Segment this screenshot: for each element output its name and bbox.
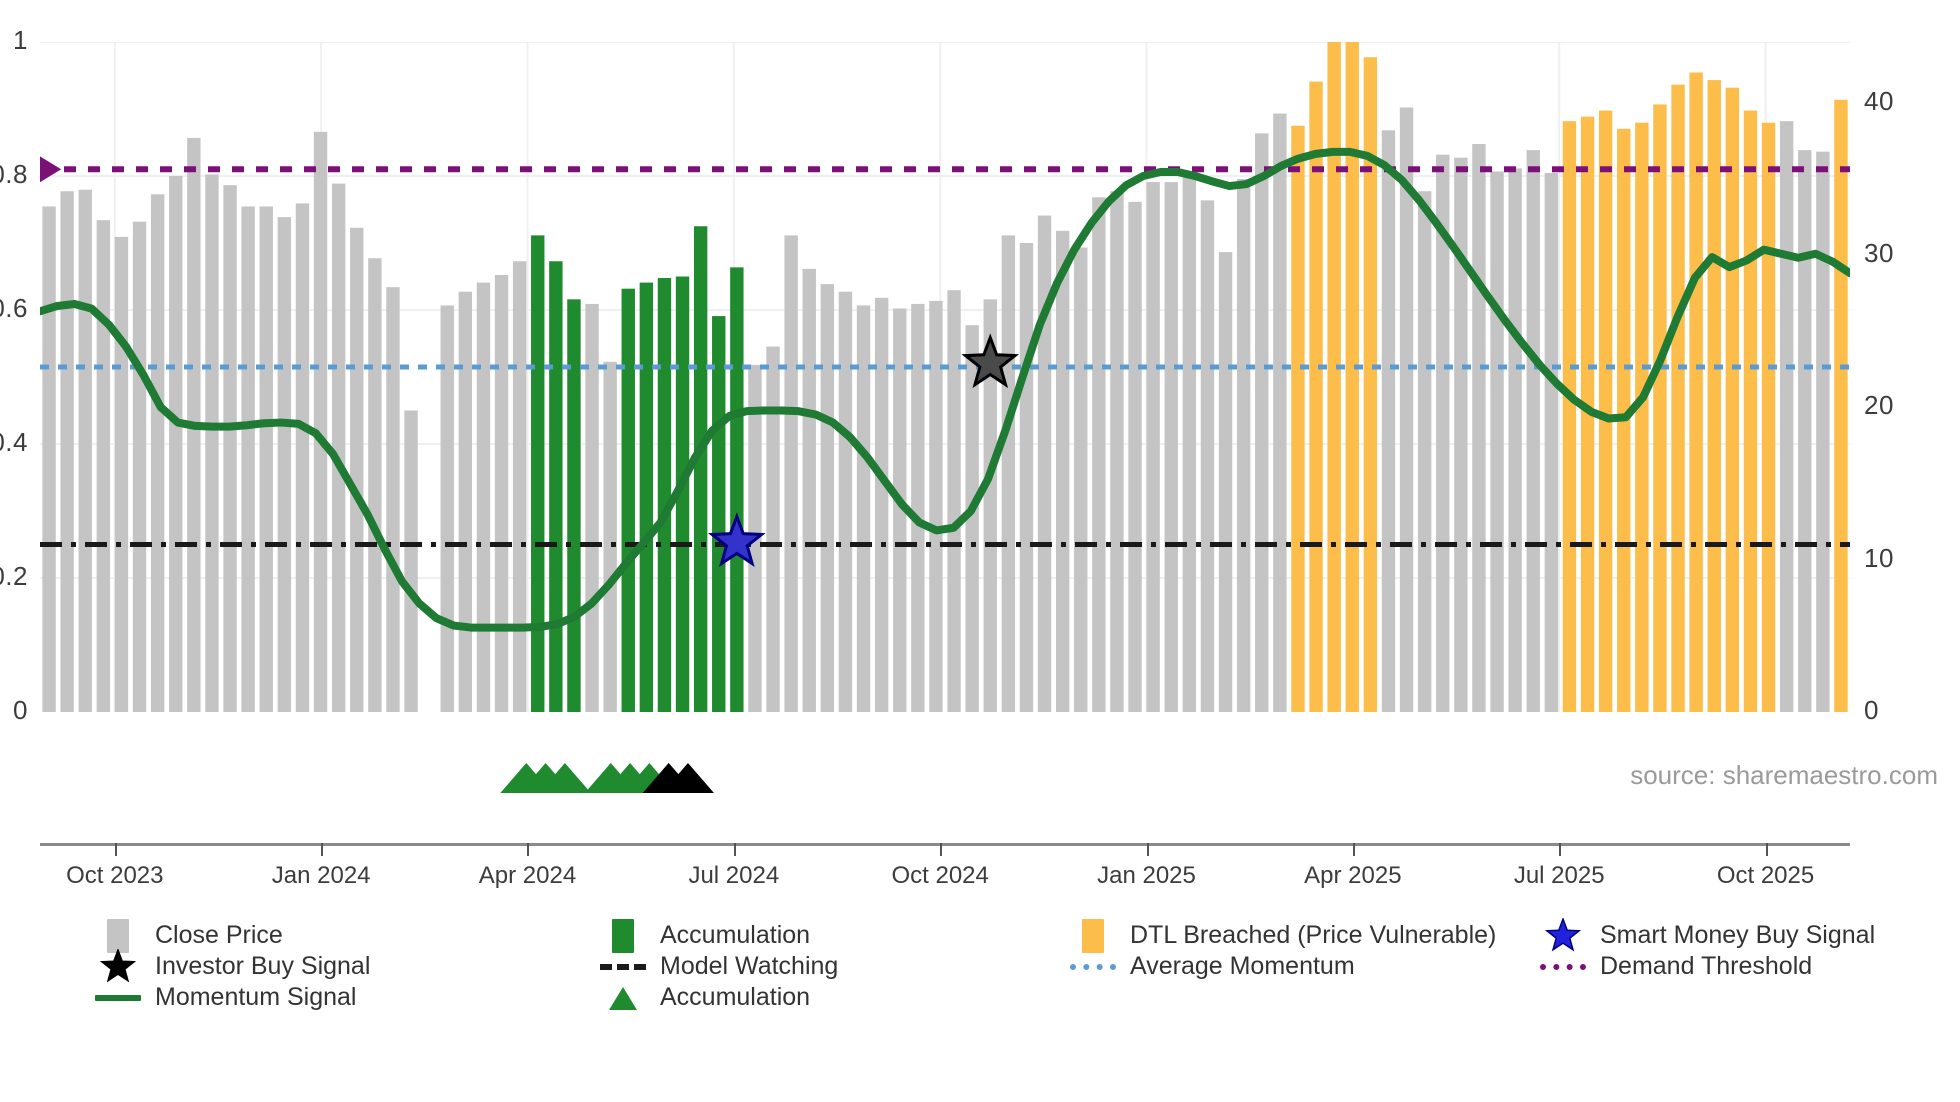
bar-close-price bbox=[1780, 121, 1793, 712]
x-axis-tick-0: Oct 2023 bbox=[66, 862, 163, 890]
swatch-dash-icon bbox=[600, 964, 646, 970]
x-axis-tickmark-6 bbox=[1353, 843, 1355, 856]
bar-dtl-breached bbox=[1327, 42, 1340, 712]
bar-close-price bbox=[803, 269, 816, 712]
star-icon bbox=[1545, 918, 1581, 954]
source-note: source: sharemaestro.com bbox=[1630, 760, 1938, 791]
bar-dtl-breached bbox=[1291, 126, 1304, 712]
legend-momentum-signal[interactable]: Momentum Signal bbox=[95, 982, 370, 1013]
bar-close-price bbox=[1002, 235, 1015, 712]
bar-accumulation bbox=[622, 289, 635, 712]
legend-dtl-breached[interactable]: DTL Breached (Price Vulnerable) bbox=[1070, 920, 1496, 951]
legend-label: DTL Breached (Price Vulnerable) bbox=[1130, 921, 1496, 950]
bar-close-price bbox=[1418, 191, 1431, 712]
bar-close-price bbox=[1816, 152, 1829, 712]
bar-close-price bbox=[1165, 182, 1178, 712]
bar-close-price bbox=[1237, 179, 1250, 712]
bar-dtl-breached bbox=[1309, 82, 1322, 712]
bar-close-price bbox=[1201, 200, 1214, 712]
x-axis-tick-7: Jul 2025 bbox=[1514, 862, 1605, 890]
bar-close-price bbox=[1183, 173, 1196, 712]
legend-demand-threshold[interactable]: Demand Threshold bbox=[1540, 951, 1875, 982]
left-axis-tick-2: 0.4 bbox=[0, 427, 28, 458]
bar-close-price bbox=[1056, 231, 1069, 712]
x-axis-spine bbox=[40, 843, 1850, 846]
bar-close-price bbox=[1092, 197, 1105, 712]
x-axis-tickmark-0 bbox=[115, 843, 117, 856]
bar-close-price bbox=[1472, 144, 1485, 712]
bar-close-price bbox=[1545, 173, 1558, 712]
bar-close-price bbox=[151, 194, 164, 712]
bar-close-price bbox=[97, 220, 110, 712]
legend-close-price[interactable]: Close Price bbox=[95, 920, 370, 951]
bar-close-price bbox=[1020, 243, 1033, 712]
bar-close-price bbox=[1508, 168, 1521, 712]
x-axis-tick-3: Jul 2024 bbox=[688, 862, 779, 890]
bar-accumulation bbox=[730, 267, 743, 712]
bar-close-price bbox=[133, 222, 146, 712]
triangle-accumulation-green-3 bbox=[585, 763, 637, 793]
legend-accumulation-triangle[interactable]: Accumulation bbox=[600, 982, 838, 1013]
triangle-accumulation-green-1 bbox=[520, 763, 572, 793]
swatch-dotted-icon bbox=[1070, 964, 1116, 970]
bar-close-price bbox=[332, 184, 345, 712]
bar-close-price bbox=[1110, 191, 1123, 712]
bar-close-price bbox=[1146, 182, 1159, 712]
x-axis-tick-2: Apr 2024 bbox=[479, 862, 576, 890]
bar-close-price bbox=[60, 191, 73, 712]
x-axis-tickmark-7 bbox=[1559, 843, 1561, 856]
bar-close-price bbox=[278, 217, 291, 712]
bar-accumulation bbox=[712, 316, 725, 712]
bar-accumulation bbox=[640, 283, 653, 712]
bar-close-price bbox=[1038, 216, 1051, 712]
x-axis-tickmark-4 bbox=[940, 843, 942, 856]
x-axis-tickmark-5 bbox=[1147, 843, 1149, 856]
bar-close-price bbox=[495, 275, 508, 712]
right-axis-tick-2: 20 bbox=[1864, 390, 1894, 421]
legend-label: Accumulation bbox=[660, 921, 810, 950]
x-axis-tick-5: Jan 2025 bbox=[1097, 862, 1196, 890]
swatch-bar-icon bbox=[1082, 919, 1104, 953]
x-axis-tick-6: Apr 2025 bbox=[1304, 862, 1401, 890]
bar-close-price bbox=[314, 132, 327, 712]
x-axis-tick-8: Oct 2025 bbox=[1717, 862, 1814, 890]
bar-accumulation bbox=[658, 278, 671, 712]
legend-model-watching[interactable]: Model Watching bbox=[600, 951, 838, 982]
triangle-accumulation-green-4 bbox=[604, 763, 656, 793]
triangle-accumulation-black-1 bbox=[662, 763, 714, 793]
bar-close-price bbox=[1255, 133, 1268, 712]
left-axis-tick-0: 0 bbox=[13, 695, 28, 726]
bar-close-price bbox=[1273, 114, 1286, 712]
bar-accumulation bbox=[694, 226, 707, 712]
legend-label: Accumulation bbox=[660, 983, 810, 1012]
bar-dtl-breached bbox=[1726, 88, 1739, 712]
triangle-accumulation-green-6 bbox=[643, 763, 695, 793]
swatch-line-icon bbox=[95, 995, 141, 1001]
star-icon bbox=[100, 949, 136, 985]
triangle-icon bbox=[605, 982, 641, 1014]
bar-close-price bbox=[115, 237, 128, 712]
legend-column-3: Smart Money Buy SignalDemand Threshold bbox=[1540, 920, 1875, 982]
legend-investor-buy-signal[interactable]: Investor Buy Signal bbox=[95, 951, 370, 982]
left-axis-tick-5: 1 bbox=[13, 25, 28, 56]
bar-accumulation bbox=[567, 299, 580, 712]
left-axis-tick-1: 0.2 bbox=[0, 561, 28, 592]
bar-close-price bbox=[875, 298, 888, 712]
bar-dtl-breached bbox=[1563, 121, 1576, 712]
x-axis-tickmark-3 bbox=[734, 843, 736, 856]
bar-close-price bbox=[404, 411, 417, 713]
legend-label: Average Momentum bbox=[1130, 952, 1355, 981]
bar-close-price bbox=[1798, 150, 1811, 712]
x-axis-tickmark-8 bbox=[1766, 843, 1768, 856]
right-axis-tick-3: 30 bbox=[1864, 238, 1894, 269]
bar-close-price bbox=[223, 185, 236, 712]
right-axis-tick-0: 0 bbox=[1864, 695, 1879, 726]
triangle-accumulation-green-0 bbox=[500, 763, 552, 793]
plot-area bbox=[40, 42, 1850, 712]
swatch-bar-icon bbox=[612, 919, 634, 953]
bar-close-price bbox=[296, 203, 309, 712]
bar-accumulation bbox=[531, 235, 544, 712]
x-axis-tickmark-1 bbox=[321, 843, 323, 856]
bar-dtl-breached bbox=[1744, 111, 1757, 712]
bar-close-price bbox=[368, 258, 381, 712]
swatch-dotted-icon bbox=[1540, 964, 1586, 970]
bar-accumulation bbox=[549, 261, 562, 712]
bar-close-price bbox=[169, 176, 182, 712]
bar-close-price bbox=[1382, 130, 1395, 712]
bar-dtl-breached bbox=[1346, 42, 1359, 712]
swatch-bar-icon bbox=[107, 919, 129, 953]
legend-column-2: DTL Breached (Price Vulnerable)Average M… bbox=[1070, 920, 1496, 982]
left-axis-tick-3: 0.6 bbox=[0, 293, 28, 324]
bar-close-price bbox=[350, 228, 363, 712]
triangle-accumulation-green-2 bbox=[539, 763, 591, 793]
bar-dtl-breached bbox=[1653, 104, 1666, 712]
bar-dtl-breached bbox=[1671, 85, 1684, 712]
bar-close-price bbox=[1527, 150, 1540, 712]
bar-close-price bbox=[1490, 171, 1503, 712]
bar-dtl-breached bbox=[1834, 100, 1847, 712]
bar-close-price bbox=[1454, 158, 1467, 712]
line-momentum-signal bbox=[40, 152, 1850, 628]
bar-close-price bbox=[477, 283, 490, 712]
bar-close-price bbox=[784, 235, 797, 712]
bar-close-price bbox=[1219, 252, 1232, 712]
legend-column-0: Close PriceInvestor Buy SignalMomentum S… bbox=[95, 920, 370, 1013]
bar-close-price bbox=[79, 190, 92, 712]
chart-page: 00.20.40.60.81 010203040 Oct 2023Jan 202… bbox=[0, 0, 1960, 1102]
marker-demand-threshold-diamond bbox=[40, 148, 61, 190]
bar-close-price bbox=[766, 347, 779, 712]
bar-close-price bbox=[947, 290, 960, 712]
legend-label: Model Watching bbox=[660, 952, 838, 981]
legend-label: Demand Threshold bbox=[1600, 952, 1812, 981]
legend-label: Smart Money Buy Signal bbox=[1600, 921, 1875, 950]
bar-dtl-breached bbox=[1762, 123, 1775, 712]
bar-close-price bbox=[42, 206, 55, 712]
bar-close-price bbox=[1128, 202, 1141, 712]
chart-legend: Close PriceInvestor Buy SignalMomentum S… bbox=[0, 920, 1960, 1060]
bar-close-price bbox=[205, 174, 218, 712]
bar-close-price bbox=[821, 284, 834, 712]
legend-label: Close Price bbox=[155, 921, 283, 950]
bar-close-price bbox=[459, 292, 472, 712]
legend-smart-money-buy-signal[interactable]: Smart Money Buy Signal bbox=[1540, 920, 1875, 951]
legend-average-momentum[interactable]: Average Momentum bbox=[1070, 951, 1496, 982]
bar-close-price bbox=[260, 206, 273, 712]
right-axis-tick-4: 40 bbox=[1864, 86, 1894, 117]
legend-column-1: AccumulationModel WatchingAccumulation bbox=[600, 920, 838, 1013]
legend-accumulation-bar[interactable]: Accumulation bbox=[600, 920, 838, 951]
legend-label: Momentum Signal bbox=[155, 983, 356, 1012]
bar-close-price bbox=[513, 261, 526, 712]
left-axis-tick-4: 0.8 bbox=[0, 159, 28, 190]
bar-dtl-breached bbox=[1635, 123, 1648, 712]
bar-close-price bbox=[929, 301, 942, 712]
triangle-accumulation-green-5 bbox=[623, 763, 675, 793]
x-axis-tick-1: Jan 2024 bbox=[272, 862, 371, 890]
bar-close-price bbox=[1400, 107, 1413, 712]
bar-close-price bbox=[1074, 248, 1087, 712]
triangle-accumulation-black-0 bbox=[643, 763, 695, 793]
bar-close-price bbox=[241, 206, 254, 712]
chart-svg bbox=[40, 42, 1850, 712]
x-axis-tickmark-2 bbox=[527, 843, 529, 856]
bar-dtl-breached bbox=[1708, 80, 1721, 712]
x-axis-tick-4: Oct 2024 bbox=[891, 862, 988, 890]
right-axis-tick-1: 10 bbox=[1864, 543, 1894, 574]
bar-close-price bbox=[839, 292, 852, 712]
bar-close-price bbox=[603, 362, 616, 712]
bar-close-price bbox=[386, 287, 399, 712]
legend-label: Investor Buy Signal bbox=[155, 952, 370, 981]
